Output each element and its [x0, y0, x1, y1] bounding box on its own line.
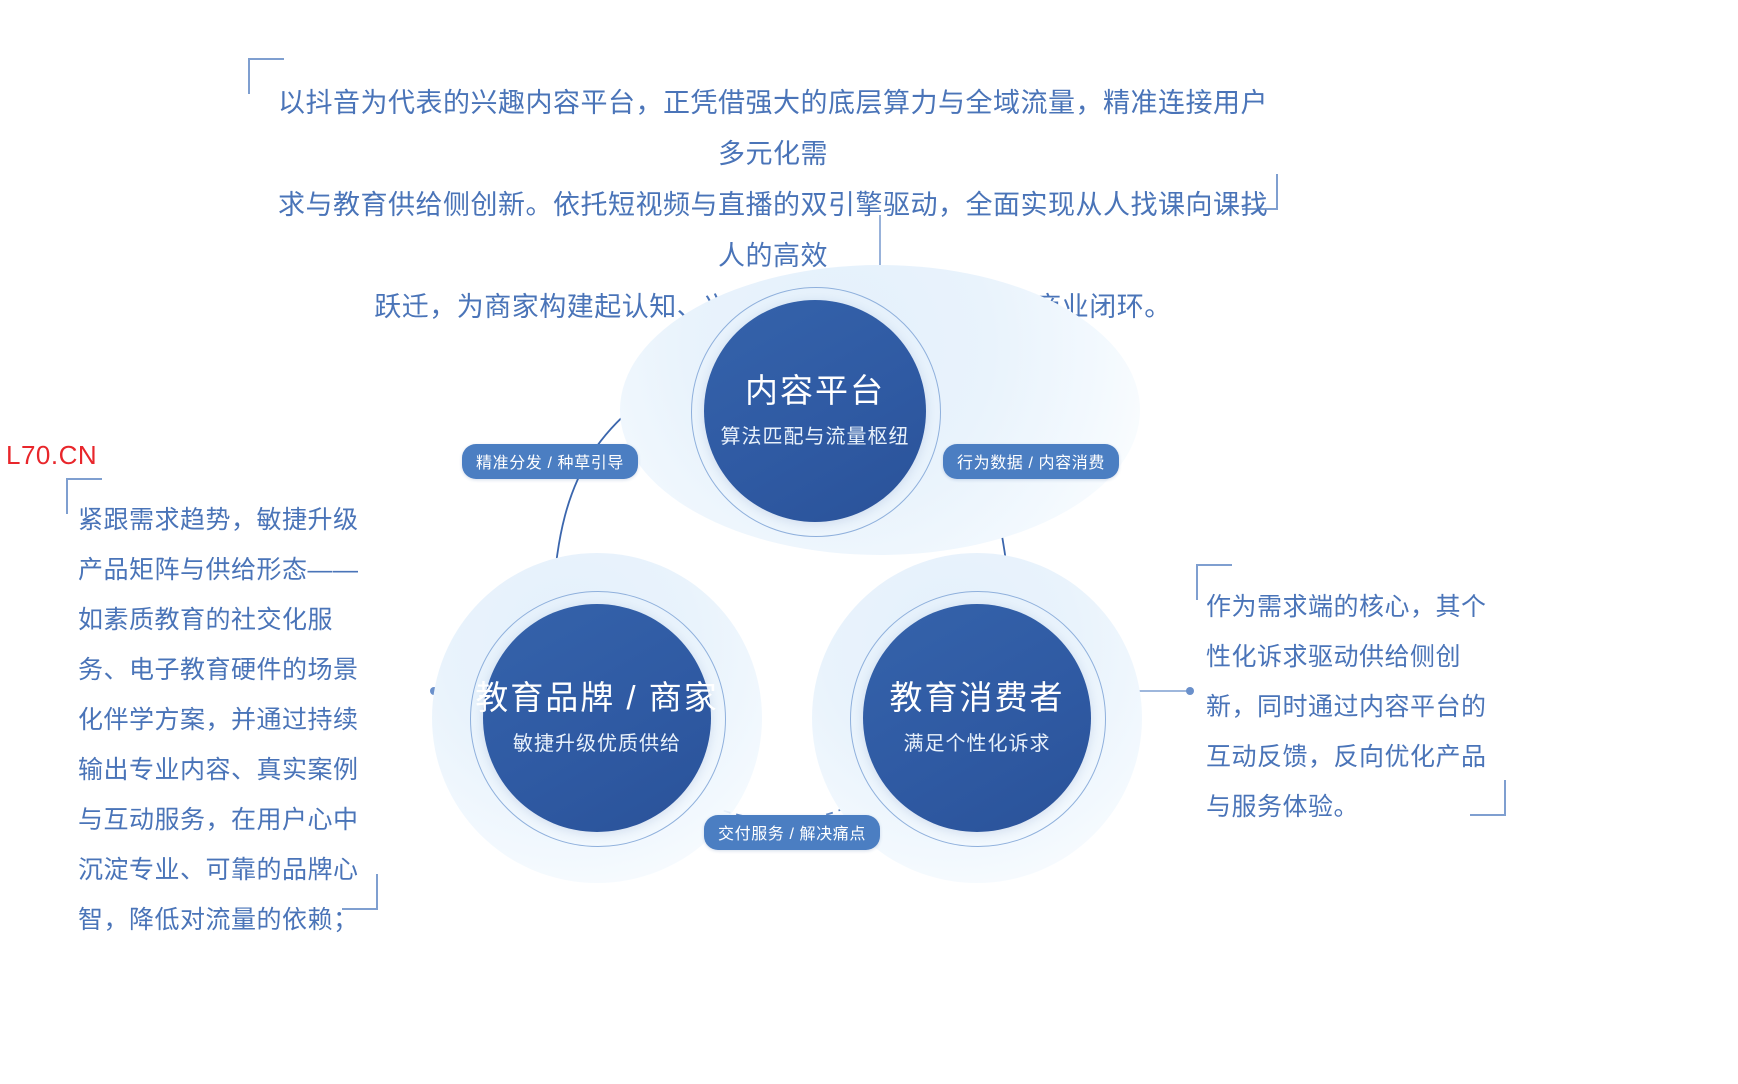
connector-label-platform-to-brand: 精准分发 / 种草引导 — [462, 444, 638, 479]
node-content-platform[interactable]: 内容平台 算法匹配与流量枢纽 — [620, 265, 1140, 555]
node-title: 内容平台 — [745, 373, 885, 409]
node-core[interactable]: 内容平台 算法匹配与流量枢纽 — [704, 300, 926, 522]
connector-label-consumer-to-platform: 行为数据 / 内容消费 — [943, 444, 1119, 479]
node-title: 教育品牌 / 商家 — [475, 680, 719, 716]
node-core[interactable]: 教育品牌 / 商家 敏捷升级优质供给 — [483, 604, 711, 832]
node-subtitle: 满足个性化诉求 — [904, 727, 1051, 756]
node-subtitle: 算法匹配与流量枢纽 — [721, 420, 910, 449]
connector-label-brand-to-consumer: 交付服务 / 解决痛点 — [704, 815, 880, 850]
node-title: 教育消费者 — [890, 680, 1065, 716]
diagram-canvas: L70.CN 以抖音为代表的兴趣内容平台，正凭借强大的底层算力与全域流量，精准连… — [0, 0, 1738, 1084]
node-core[interactable]: 教育消费者 满足个性化诉求 — [863, 604, 1091, 832]
node-subtitle: 敏捷升级优质供给 — [513, 727, 681, 756]
